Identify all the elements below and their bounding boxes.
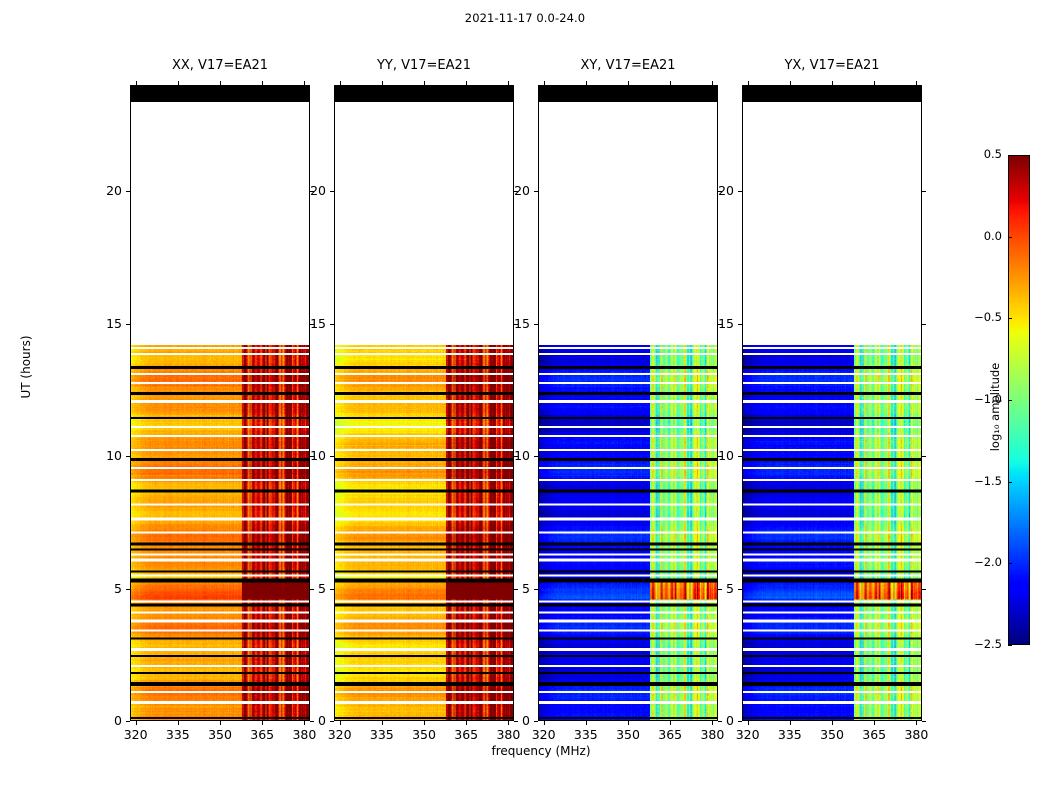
y-tick-label: 20	[88, 183, 122, 198]
y-tick-label: 0	[292, 713, 326, 728]
x-tickmark	[340, 721, 341, 725]
x-tickmark	[832, 721, 833, 725]
x-tickmark	[670, 721, 671, 725]
panel-xx[interactable]	[130, 85, 310, 721]
x-axis-label: frequency (MHz)	[130, 744, 952, 758]
x-tickmark-top	[178, 81, 179, 85]
x-tick-label: 350	[404, 727, 444, 742]
x-tickmark-top	[508, 81, 509, 85]
x-tickmark	[544, 721, 545, 725]
colorbar-tick-label: 0.5	[968, 147, 1002, 161]
y-tick-label: 0	[496, 713, 530, 728]
x-tick-label: 380	[896, 727, 936, 742]
x-tick-label: 320	[320, 727, 360, 742]
x-tick-label: 320	[116, 727, 156, 742]
x-tickmark	[586, 721, 587, 725]
colorbar-label: log₁₀ amplitude	[988, 347, 1002, 467]
y-tick-label: 0	[88, 713, 122, 728]
x-tickmark-top	[712, 81, 713, 85]
x-tickmark	[262, 721, 263, 725]
x-tickmark-top	[220, 81, 221, 85]
panel-yx[interactable]	[742, 85, 922, 721]
x-tick-label: 365	[854, 727, 894, 742]
x-tick-label: 350	[812, 727, 852, 742]
x-tickmark-top	[304, 81, 305, 85]
y-tick-label: 10	[88, 448, 122, 463]
y-tick-label: 5	[496, 581, 530, 596]
x-tickmark-top	[748, 81, 749, 85]
x-tickmark-top	[466, 81, 467, 85]
x-tickmark-top	[262, 81, 263, 85]
panel-xy[interactable]	[538, 85, 718, 721]
panel-title-xy: XY, V17=EA21	[538, 58, 718, 78]
x-tickmark-top	[424, 81, 425, 85]
panel-yy[interactable]	[334, 85, 514, 721]
y-tickmark	[534, 191, 538, 192]
x-tick-label: 380	[692, 727, 732, 742]
x-tickmark	[628, 721, 629, 725]
x-tickmark	[178, 721, 179, 725]
y-tickmark	[738, 721, 742, 722]
x-tickmark-top	[586, 81, 587, 85]
colorbar-tickmark	[1008, 237, 1012, 238]
x-tickmark	[790, 721, 791, 725]
x-tick-label: 365	[650, 727, 690, 742]
x-tickmark-top	[136, 81, 137, 85]
y-tick-label: 15	[88, 316, 122, 331]
colorbar-tick-label: −1.5	[968, 474, 1002, 488]
y-tickmark	[330, 589, 334, 590]
colorbar-tickmark	[1008, 482, 1012, 483]
x-tickmark-top	[544, 81, 545, 85]
y-tickmark	[738, 191, 742, 192]
y-tick-label: 5	[700, 581, 734, 596]
y-tickmark-right	[922, 191, 926, 192]
y-tick-label: 15	[700, 316, 734, 331]
y-tickmark	[330, 721, 334, 722]
x-tick-label: 335	[770, 727, 810, 742]
y-tickmark	[330, 324, 334, 325]
y-tickmark-right	[922, 324, 926, 325]
x-tick-label: 380	[488, 727, 528, 742]
heatmap-xy	[539, 86, 717, 720]
x-tickmark-top	[832, 81, 833, 85]
x-tickmark	[916, 721, 917, 725]
y-tick-label: 10	[292, 448, 326, 463]
x-tickmark-top	[628, 81, 629, 85]
y-tick-label: 20	[496, 183, 530, 198]
x-tickmark	[874, 721, 875, 725]
x-tick-label: 335	[566, 727, 606, 742]
colorbar-tickmark	[1008, 155, 1012, 156]
x-tick-label: 350	[608, 727, 648, 742]
panel-title-xx: XX, V17=EA21	[130, 58, 310, 78]
y-tick-label: 10	[496, 448, 530, 463]
y-tick-label: 15	[292, 316, 326, 331]
x-tick-label: 380	[284, 727, 324, 742]
colorbar-tickmark	[1008, 645, 1012, 646]
y-tickmark	[126, 191, 130, 192]
heatmap-yy	[335, 86, 513, 720]
y-tickmark	[126, 456, 130, 457]
colorbar-tick-label: −0.5	[968, 310, 1002, 324]
x-tick-label: 320	[524, 727, 564, 742]
x-tickmark	[382, 721, 383, 725]
x-tickmark-top	[790, 81, 791, 85]
x-tickmark	[748, 721, 749, 725]
x-tickmark-top	[670, 81, 671, 85]
y-tickmark-right	[922, 589, 926, 590]
y-tickmark-right	[922, 456, 926, 457]
y-tickmark	[126, 721, 130, 722]
panel-title-yy: YY, V17=EA21	[334, 58, 514, 78]
x-tickmark-top	[916, 81, 917, 85]
colorbar-tickmark	[1008, 400, 1012, 401]
x-tick-label: 365	[446, 727, 486, 742]
x-tick-label: 335	[362, 727, 402, 742]
y-tick-label: 20	[700, 183, 734, 198]
x-tickmark-top	[340, 81, 341, 85]
y-tickmark	[330, 456, 334, 457]
y-tickmark	[534, 589, 538, 590]
y-tick-label: 0	[700, 713, 734, 728]
y-tickmark	[738, 456, 742, 457]
y-tick-label: 5	[88, 581, 122, 596]
heatmap-xx	[131, 86, 309, 720]
x-tickmark-top	[382, 81, 383, 85]
y-tick-label: 15	[496, 316, 530, 331]
x-tick-label: 335	[158, 727, 198, 742]
figure-canvas: 2021-11-17 0.0-24.0 XX, V17=EA21 YY, V17…	[0, 0, 1050, 800]
x-tickmark	[466, 721, 467, 725]
y-tickmark	[534, 324, 538, 325]
x-tick-label: 320	[728, 727, 768, 742]
y-axis-label: UT (hours)	[19, 307, 33, 427]
colorbar-tick-label: −2.5	[968, 637, 1002, 651]
y-tickmark	[534, 456, 538, 457]
y-tickmark	[126, 324, 130, 325]
y-tickmark	[738, 324, 742, 325]
x-tickmark	[136, 721, 137, 725]
heatmap-yx	[743, 86, 921, 720]
y-tickmark-right	[922, 721, 926, 722]
x-tick-label: 365	[242, 727, 282, 742]
x-tick-label: 350	[200, 727, 240, 742]
y-tickmark	[738, 589, 742, 590]
y-tickmark	[534, 721, 538, 722]
x-tickmark	[424, 721, 425, 725]
y-tick-label: 10	[700, 448, 734, 463]
y-tickmark	[126, 589, 130, 590]
x-tickmark	[220, 721, 221, 725]
colorbar-tickmark	[1008, 563, 1012, 564]
y-tick-label: 20	[292, 183, 326, 198]
panel-title-yx: YX, V17=EA21	[742, 58, 922, 78]
colorbar-tick-label: −2.0	[968, 555, 1002, 569]
x-tickmark-top	[874, 81, 875, 85]
y-tickmark	[330, 191, 334, 192]
colorbar-tick-label: 0.0	[968, 229, 1002, 243]
figure-suptitle: 2021-11-17 0.0-24.0	[0, 11, 1050, 25]
colorbar-tickmark	[1008, 318, 1012, 319]
y-tick-label: 5	[292, 581, 326, 596]
